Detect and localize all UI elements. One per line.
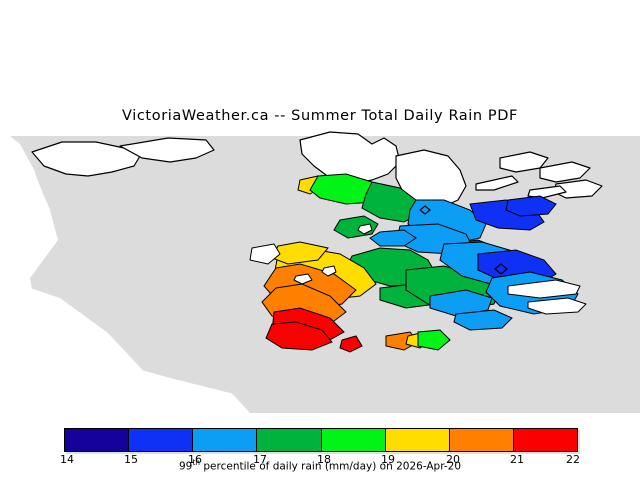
colorbar-strip	[64, 428, 578, 452]
colorbar-segment-15-16	[129, 429, 193, 451]
caption-prefix: 99	[179, 461, 192, 473]
weather-map-figure: VictoriaWeather.ca -- Summer Total Daily…	[0, 0, 640, 480]
map-svg	[0, 128, 640, 413]
colorbar-segment-20-21	[450, 429, 514, 451]
colorbar-segment-19-20	[386, 429, 450, 451]
colorbar-segment-21-22	[514, 429, 577, 451]
page-title: VictoriaWeather.ca -- Summer Total Daily…	[0, 108, 640, 124]
colorbar-segment-16-17	[193, 429, 257, 451]
colorbar-segment-17-18	[257, 429, 321, 451]
colorbar-caption: 99th percentile of daily rain (mm/day) o…	[0, 458, 640, 473]
caption-suffix: percentile of daily rain (mm/day) on 202…	[200, 461, 461, 473]
map-canvas	[0, 128, 640, 413]
colorbar-segment-14-15	[65, 429, 129, 451]
colorbar-segment-18-19	[322, 429, 386, 451]
caption-superscript: th	[192, 458, 200, 467]
